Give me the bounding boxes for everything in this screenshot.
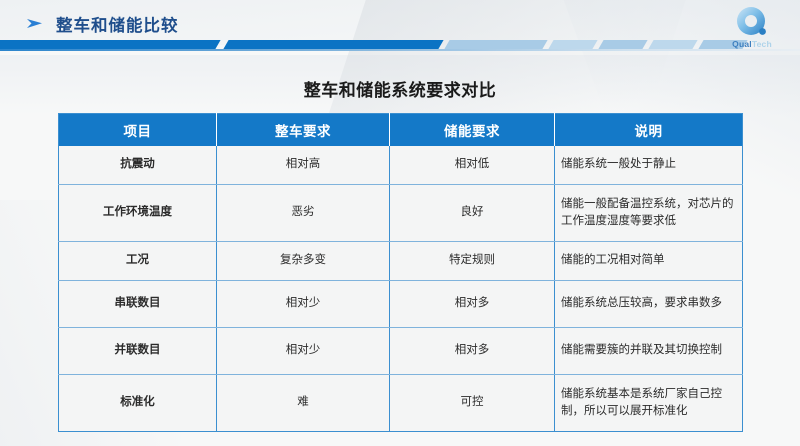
brand-name: QualTech [722, 39, 782, 49]
cell-note: 储能系统总压较高，要求串数多 [555, 281, 743, 328]
cell-storage: 相对多 [390, 281, 555, 328]
brand-name-part2: Tech [752, 39, 772, 49]
banner-bar-5 [598, 40, 647, 49]
cell-item: 抗震动 [59, 146, 217, 185]
table-row: 抗震动 相对高 相对低 储能系统一般处于静止 [59, 146, 743, 185]
banner-bar-2 [223, 40, 443, 49]
brand-logo: QualTech [722, 6, 782, 54]
cell-note: 储能的工况相对简单 [555, 242, 743, 281]
cell-vehicle: 相对少 [217, 281, 390, 328]
cell-note: 储能需要簇的并联及其切换控制 [555, 328, 743, 375]
slide-header: 整车和储能比较 [26, 12, 179, 36]
table-row: 并联数目 相对少 相对多 储能需要簇的并联及其切换控制 [59, 328, 743, 375]
cell-vehicle: 恶劣 [217, 185, 390, 242]
comparison-table: 项目 整车要求 储能要求 说明 抗震动 相对高 相对低 储能系统一般处于静止 工… [58, 113, 743, 432]
cell-storage: 相对多 [390, 328, 555, 375]
cell-item: 并联数目 [59, 328, 217, 375]
cell-vehicle: 相对少 [217, 328, 390, 375]
cell-storage: 良好 [390, 185, 555, 242]
brand-name-part1: Qual [732, 39, 752, 49]
cell-storage: 特定规则 [390, 242, 555, 281]
column-header-storage: 储能要求 [390, 114, 555, 147]
cell-item: 标准化 [59, 375, 217, 432]
cell-item: 工况 [59, 242, 217, 281]
cell-vehicle: 难 [217, 375, 390, 432]
cell-item: 串联数目 [59, 281, 217, 328]
cell-note: 储能系统基本是系统厂家自己控制，所以可以展开标准化 [555, 375, 743, 432]
column-header-item: 项目 [59, 114, 217, 147]
table-row: 串联数目 相对少 相对多 储能系统总压较高，要求串数多 [59, 281, 743, 328]
column-header-vehicle: 整车要求 [217, 114, 390, 147]
cell-vehicle: 复杂多变 [217, 242, 390, 281]
qualtech-q-logo-icon [722, 6, 782, 38]
table-row: 工作环境温度 恶劣 良好 储能一般配备温控系统，对芯片的工作温度湿度等要求低 [59, 185, 743, 242]
cell-storage: 可控 [390, 375, 555, 432]
column-header-note: 说明 [555, 114, 743, 147]
table-title: 整车和储能系统要求对比 [0, 76, 800, 101]
arrow-right-icon [26, 17, 44, 31]
cell-note: 储能一般配备温控系统，对芯片的工作温度湿度等要求低 [555, 185, 743, 242]
banner-bar-6 [648, 40, 697, 49]
decorative-banner [0, 40, 800, 54]
table-row: 标准化 难 可控 储能系统基本是系统厂家自己控制，所以可以展开标准化 [59, 375, 743, 432]
slide-canvas: 整车和储能比较 [0, 0, 800, 446]
cell-vehicle: 相对高 [217, 146, 390, 185]
comparison-table-wrapper: 项目 整车要求 储能要求 说明 抗震动 相对高 相对低 储能系统一般处于静止 工… [58, 113, 742, 432]
cell-item: 工作环境温度 [59, 185, 217, 242]
cell-storage: 相对低 [390, 146, 555, 185]
table-row: 工况 复杂多变 特定规则 储能的工况相对简单 [59, 242, 743, 281]
page-title: 整车和储能比较 [56, 12, 179, 36]
banner-bar-4 [548, 40, 597, 49]
banner-underline [0, 49, 800, 51]
banner-bar-3 [444, 40, 547, 49]
table-header-row: 项目 整车要求 储能要求 说明 [59, 114, 743, 147]
cell-note: 储能系统一般处于静止 [555, 146, 743, 185]
banner-bar-1 [0, 40, 221, 49]
